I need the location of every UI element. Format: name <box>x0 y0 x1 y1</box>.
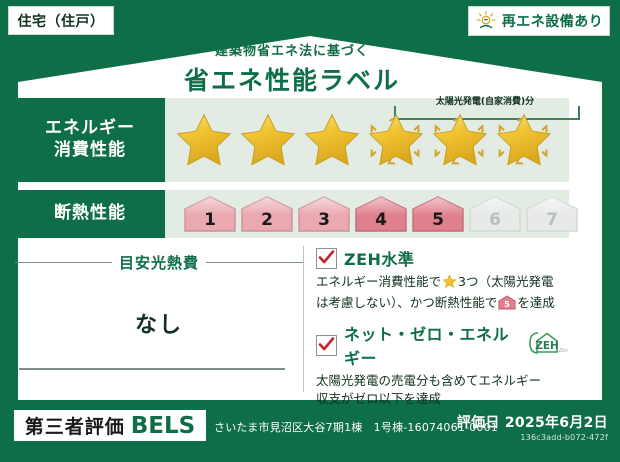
insulation-level-4: 4 <box>354 195 408 233</box>
insulation-level-number: 6 <box>468 210 522 230</box>
title-subtitle: 建築物省エネ法に基づく <box>0 40 584 59</box>
row-insulation-performance: 断熱性能 1234567 <box>15 190 569 238</box>
checkbox-zeh-standard[interactable] <box>316 248 337 269</box>
star-rating <box>173 98 565 182</box>
bels-en-label: BELS <box>131 413 195 439</box>
rule-right <box>206 262 303 263</box>
utility-cost-value: なし <box>15 307 303 339</box>
row-energy-label: エネルギー 消費性能 <box>15 98 165 182</box>
insulation-level-scale: 1234567 <box>183 190 565 238</box>
row-energy-body: 太陽光発電(自家消費)分 <box>165 98 569 182</box>
property-address: さいたま市見沼区大谷7期1棟 1号棟-16074061-0001 <box>214 419 498 435</box>
row-insulation-body: 1234567 <box>165 190 569 238</box>
zeh-standard-name: ZEH水準 <box>344 246 414 270</box>
svg-text:ZEH: ZEH <box>558 348 567 354</box>
zeh-net-zero-desc-a: 太陽光発電の売電分も含めてエネルギー <box>316 373 541 388</box>
zeh-standard-desc-d: を達成 <box>517 295 555 310</box>
badge-renewable-equipment: 再エネ設備あり <box>468 6 610 36</box>
insulation-level-3: 3 <box>297 195 351 233</box>
house-level-icon: 5 <box>498 295 516 315</box>
zeh-standard-desc-b: 3つ（太陽光発電 <box>458 274 553 289</box>
page-title: 省エネ性能ラベル <box>0 61 584 97</box>
row-insulation-label-text: 断熱性能 <box>54 203 126 225</box>
svg-text:5: 5 <box>504 299 510 309</box>
checkbox-zeh-net-zero[interactable] <box>316 335 337 356</box>
zeh-net-zero-name: ネット・ゼロ・エネルギー <box>344 321 516 369</box>
energy-performance-label: 住宅（住戸） 再エネ設備あり 建築物省エネ法に基づく 省エネ性能ラベル <box>0 0 620 462</box>
badge-renewable-label: 再エネ設備あり <box>502 11 604 31</box>
row-energy-label-line2: 消費性能 <box>54 140 126 162</box>
star-solar <box>365 111 427 169</box>
insulation-level-number: 5 <box>411 210 465 230</box>
sun-icon <box>475 10 497 32</box>
star-solar <box>493 111 555 169</box>
row-energy-performance: エネルギー 消費性能 太陽光発電(自家消費)分 <box>15 98 569 182</box>
zeh-panel: ZEH水準 エネルギー消費性能で3つ（太陽光発電 は考慮しない）、かつ断熱性能で… <box>303 246 569 392</box>
insulation-level-number: 7 <box>525 210 579 230</box>
svg-text:ZEH: ZEH <box>535 340 559 352</box>
zeh-standard-header: ZEH水準 <box>316 246 569 270</box>
evaluation-date: 評価日 2025年6月2日 <box>457 412 608 432</box>
lower-section: 目安光熱費 なし ZEH水準 エネルギー消費性能で3つ（太陽光発電 <box>15 246 569 392</box>
row-insulation-label: 断熱性能 <box>15 190 165 238</box>
zeh-standard-desc-a: エネルギー消費性能で <box>316 274 441 289</box>
star-solar <box>429 111 491 169</box>
utility-cost-panel: 目安光熱費 なし <box>15 246 303 392</box>
utility-cost-title: 目安光熱費 <box>119 252 199 273</box>
insulation-level-number: 1 <box>183 210 237 230</box>
zeh-logo-icon: ZEH ZEH <box>527 330 569 360</box>
insulation-level-number: 4 <box>354 210 408 230</box>
title-block: 建築物省エネ法に基づく 省エネ性能ラベル <box>0 40 584 97</box>
zeh-net-zero-header: ネット・ゼロ・エネルギー ZEH ZEH <box>316 321 569 369</box>
badge-house-type-label: 住宅（住戸） <box>18 11 105 31</box>
zeh-item-net-zero: ネット・ゼロ・エネルギー ZEH ZEH 太陽光発電の売電分も含めてエネルギー … <box>316 321 569 408</box>
zeh-standard-description: エネルギー消費性能で3つ（太陽光発電 は考慮しない）、かつ断熱性能で5を達成 <box>316 273 569 315</box>
insulation-level-1: 1 <box>183 195 237 233</box>
utility-cost-rule <box>19 368 285 370</box>
zeh-standard-desc-c: は考慮しない）、かつ断熱性能で <box>316 295 497 310</box>
insulation-level-2: 2 <box>240 195 294 233</box>
rule-left <box>15 262 112 263</box>
badge-house-type: 住宅（住戸） <box>8 6 114 35</box>
insulation-level-6: 6 <box>468 195 522 233</box>
insulation-level-number: 3 <box>297 210 351 230</box>
footer: 第三者評価 BELS さいたま市見沼区大谷7期1棟 1号棟-16074061-0… <box>0 404 620 462</box>
zeh-item-standard: ZEH水準 エネルギー消費性能で3つ（太陽光発電 は考慮しない）、かつ断熱性能で… <box>316 246 569 315</box>
bels-jp-label: 第三者評価 <box>25 412 125 439</box>
evaluation-info: 評価日 2025年6月2日 136c3add-b072-472f <box>457 412 608 442</box>
insulation-level-number: 2 <box>240 210 294 230</box>
star-filled <box>237 111 299 169</box>
insulation-level-5: 5 <box>411 195 465 233</box>
insulation-level-7: 7 <box>525 195 579 233</box>
star-filled <box>173 111 235 169</box>
star-filled <box>301 111 363 169</box>
utility-cost-header: 目安光熱費 <box>15 252 303 273</box>
bels-certification-box: 第三者評価 BELS <box>14 410 206 441</box>
evaluation-code: 136c3add-b072-472f <box>457 433 608 442</box>
row-energy-label-line1: エネルギー <box>45 118 135 140</box>
star-icon <box>442 274 457 294</box>
